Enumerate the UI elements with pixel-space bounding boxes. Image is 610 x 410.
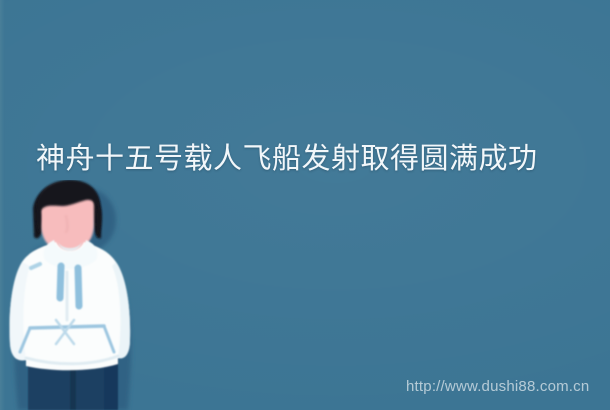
drawstring-left bbox=[60, 266, 61, 298]
image-canvas: 神舟十五号载人飞船发射取得圆满成功 http://www.dushi88.com… bbox=[0, 0, 610, 410]
page-title: 神舟十五号载人飞船发射取得圆满成功 bbox=[36, 141, 596, 177]
drawstring-right bbox=[78, 268, 79, 306]
person-illustration bbox=[0, 180, 150, 410]
watermark-url: http://www.dushi88.com.cn bbox=[406, 378, 589, 396]
